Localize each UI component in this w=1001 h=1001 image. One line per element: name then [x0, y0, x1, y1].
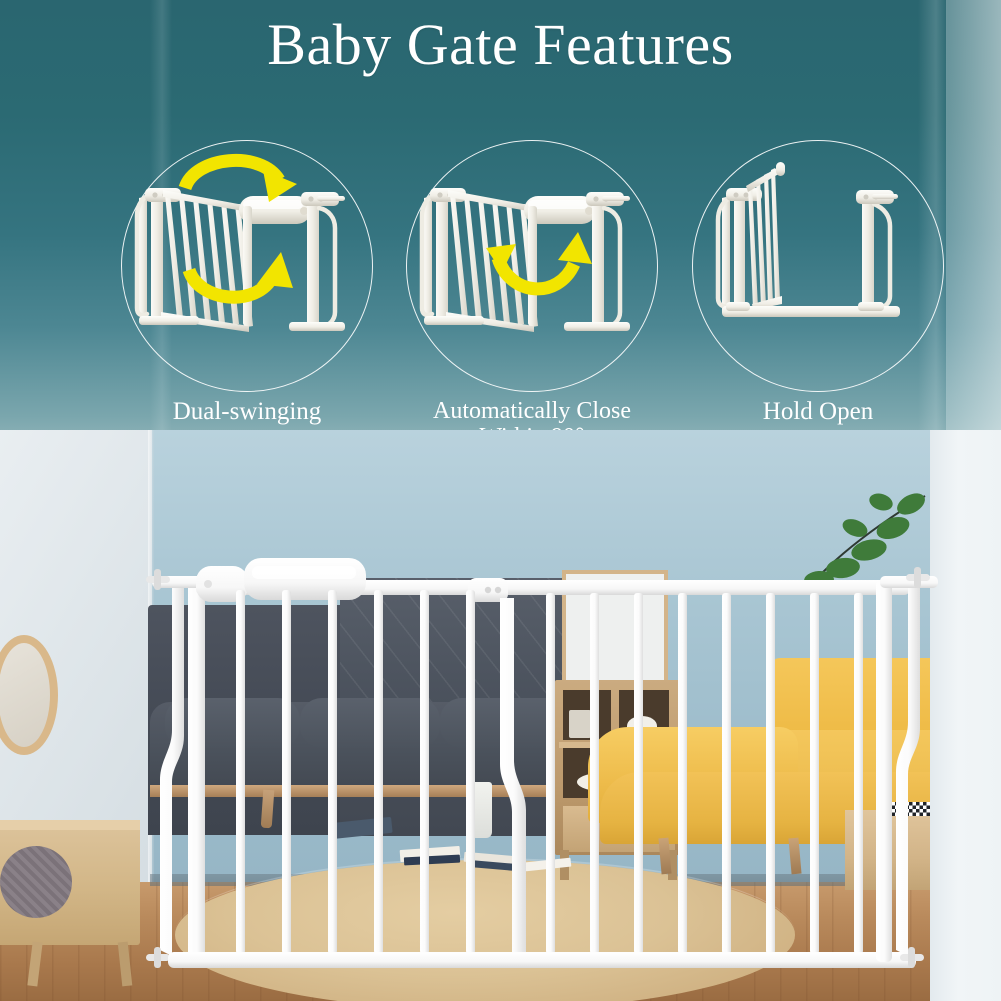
gate-illustration-auto-close	[406, 140, 658, 392]
baby-gate	[0, 430, 1001, 1001]
gate-latch-handle	[196, 558, 366, 602]
gate-right-post	[876, 567, 938, 968]
feature-list: Dual-swinging Doors	[0, 140, 1001, 460]
infographic-page: Baby Gate Features	[0, 0, 1001, 1001]
page-title: Baby Gate Features	[0, 14, 1001, 77]
gate-bars-right-door	[546, 593, 863, 954]
feature-caption-line-1: Dual-swinging	[173, 398, 322, 425]
gate-left-post	[146, 569, 214, 968]
feature-caption-line-1: Automatically Close	[433, 398, 631, 424]
feature-caption-line-1: Hold Open	[763, 398, 873, 425]
feature-automatically-close: Automatically Close Within 90°	[382, 140, 682, 460]
gate-illustration-dual-swing	[121, 140, 373, 392]
feature-caption: Hold Open	[668, 398, 968, 426]
gate-center-hinge	[468, 578, 526, 954]
gate-bottom-rail	[168, 952, 916, 968]
feature-hold-open: Hold Open	[668, 140, 968, 460]
feature-dual-swinging-doors: Dual-swinging Doors	[97, 140, 397, 460]
gate-illustration-hold-open	[692, 140, 944, 392]
gate-bars-left-door	[236, 590, 475, 954]
arrow-swing-top	[185, 160, 297, 202]
